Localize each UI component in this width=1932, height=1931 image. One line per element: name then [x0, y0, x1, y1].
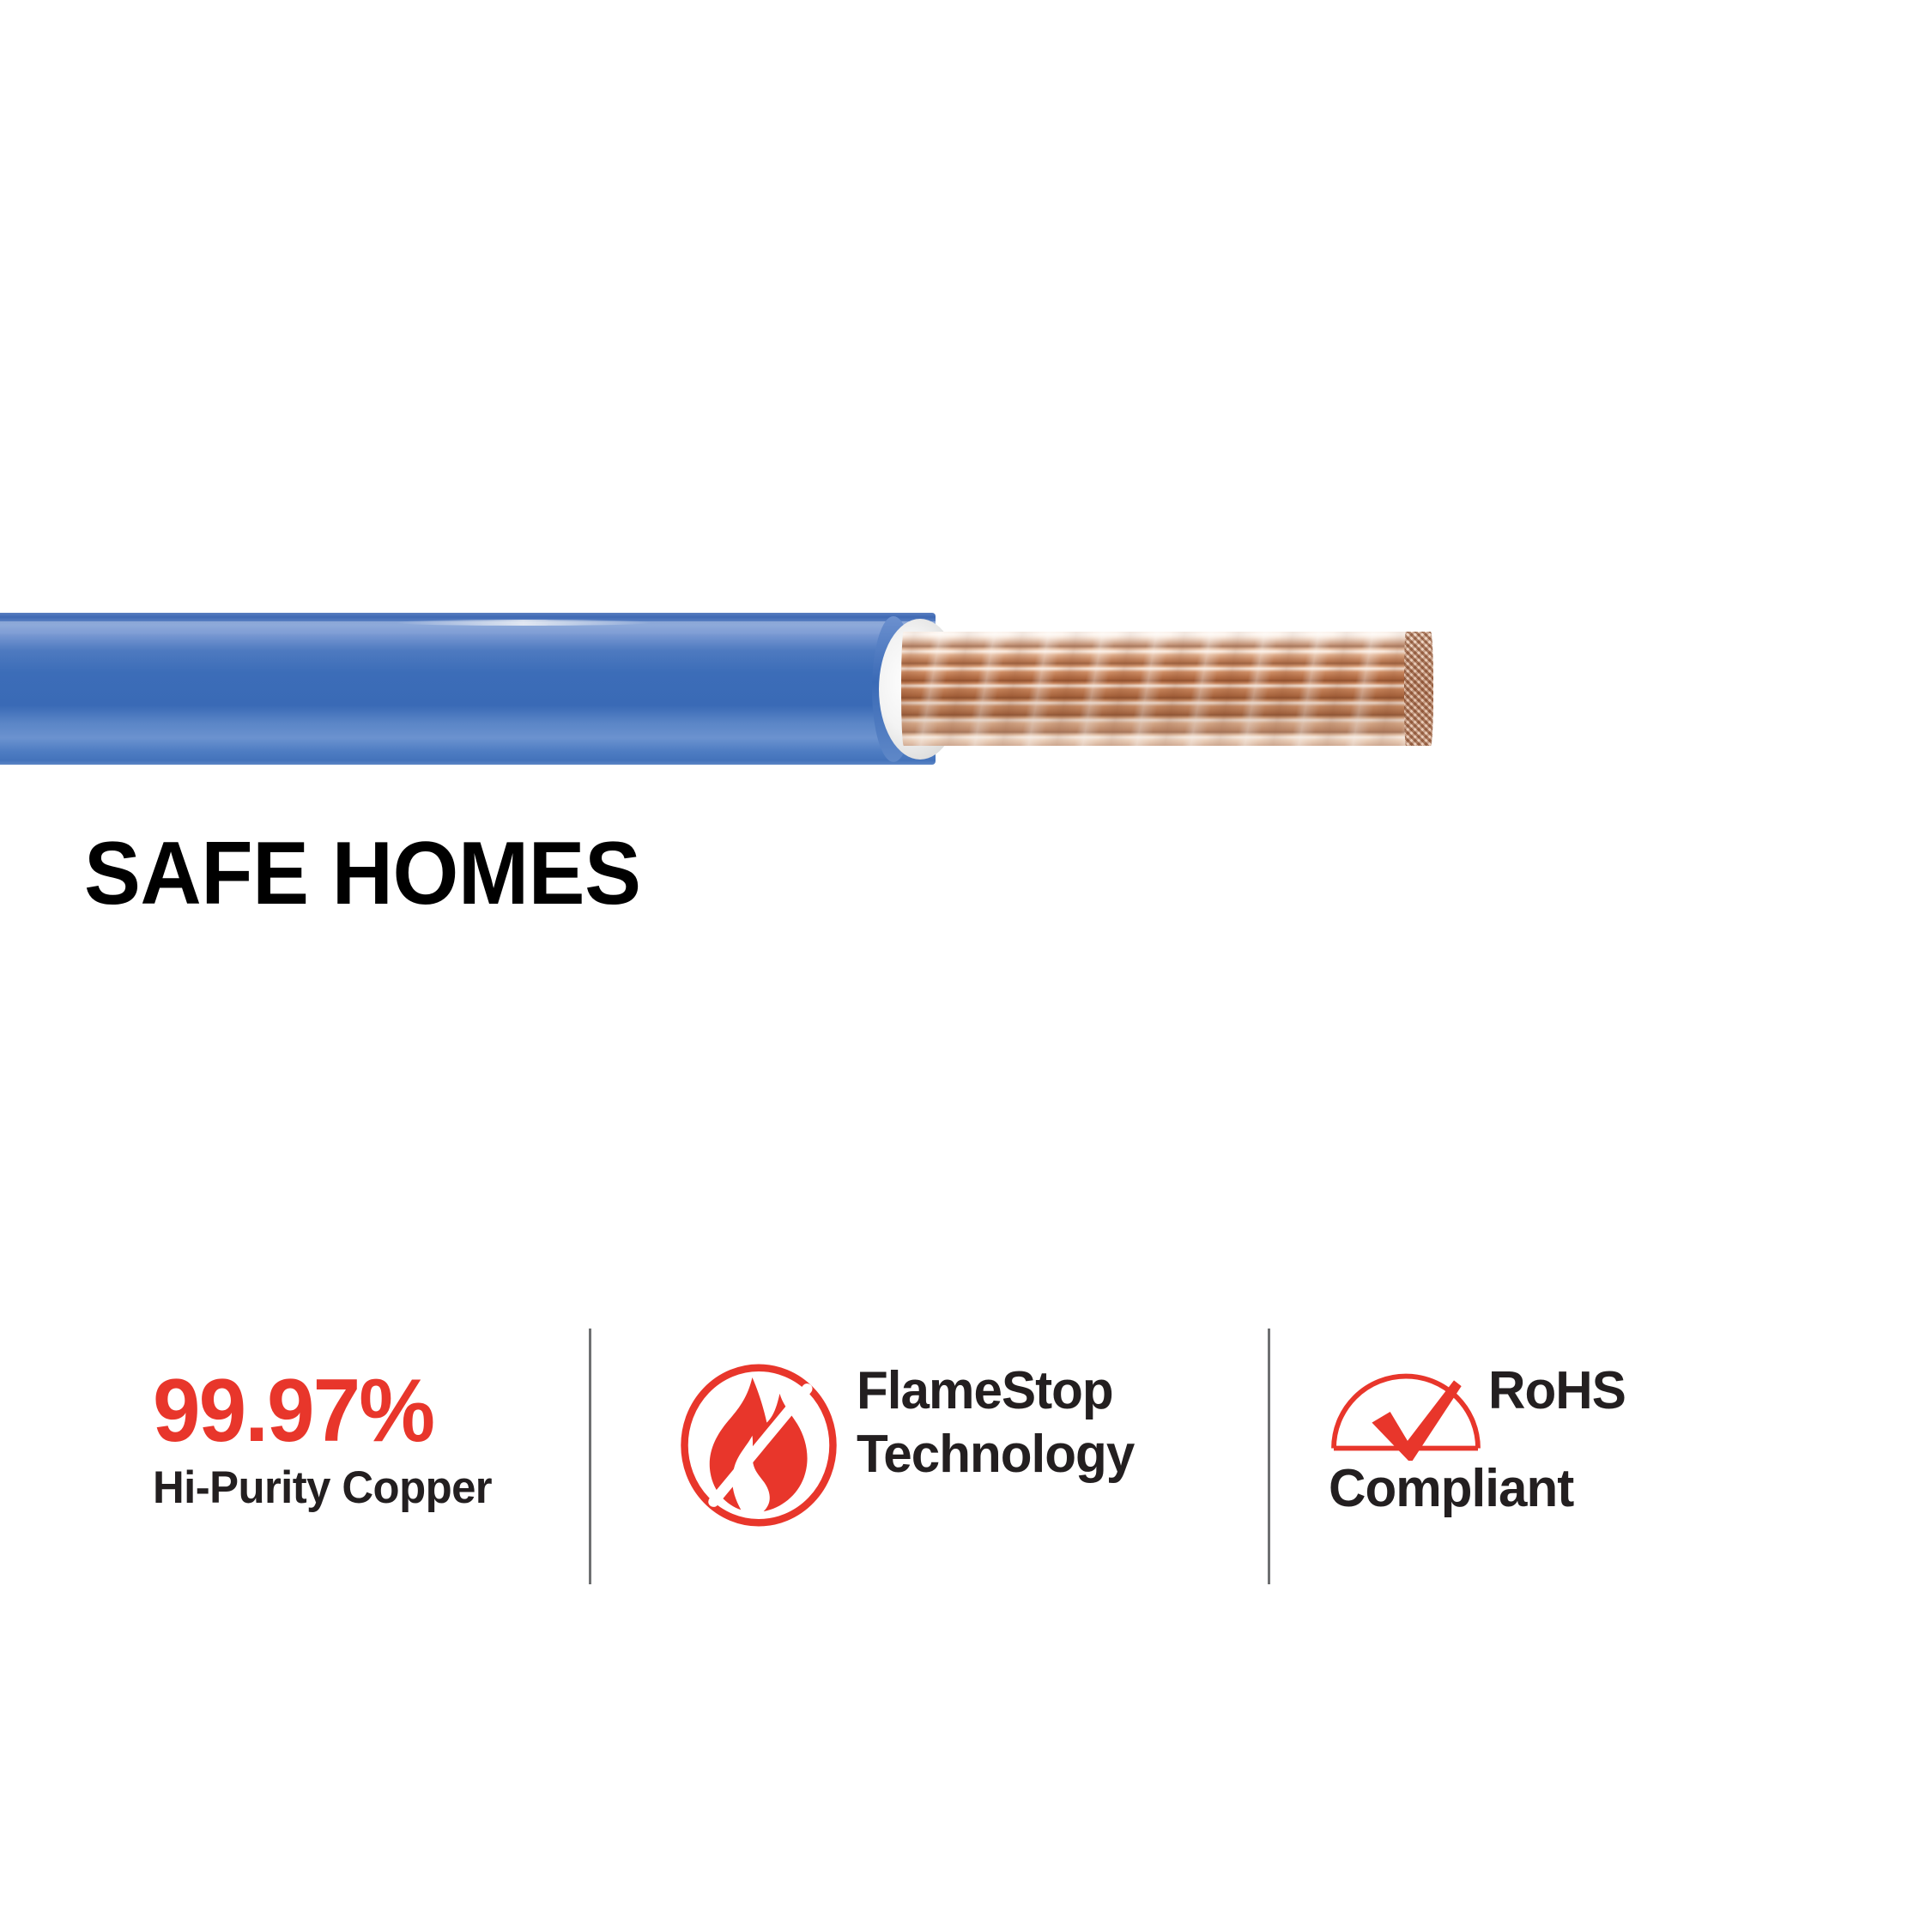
badge-rohs-compliant: RoHS Compliant	[1329, 1322, 1630, 1596]
badge-flamestop-technology: FlameStop Technology	[678, 1322, 1142, 1596]
flamestop-line-2: Technology	[857, 1423, 1134, 1486]
copper-cut-end-cross-section	[1404, 632, 1433, 746]
purity-label: Hi-Purity Copper	[153, 1462, 492, 1514]
cable-jacket-scuff	[395, 620, 652, 626]
flamestop-line-1: FlameStop	[857, 1359, 1134, 1423]
purity-percentage-value: 99.97%	[153, 1370, 433, 1452]
copper-strand-shading	[901, 632, 1433, 746]
copper-conductor-strands	[901, 632, 1433, 746]
cable-product-image	[0, 601, 1459, 772]
feature-badge-strip: 99.97% Hi-Purity Copper FlameStop Techno…	[0, 1322, 1932, 1596]
page-title: SAFE HOMES	[84, 829, 641, 918]
badge-divider	[589, 1329, 591, 1584]
rohs-line-2: Compliant	[1329, 1457, 1573, 1521]
rohs-line-1: RoHS	[1488, 1359, 1626, 1423]
poster-canvas: SAFE HOMES 99.97% Hi-Purity Copper Flame…	[0, 0, 1932, 1931]
cable-blue-insulation	[0, 613, 936, 765]
badge-divider	[1268, 1329, 1270, 1584]
no-flame-icon	[678, 1363, 839, 1528]
rohs-icon-and-word: RoHS	[1329, 1359, 1630, 1461]
flamestop-text-block: FlameStop Technology	[857, 1359, 1134, 1486]
badge-hi-purity-copper: 99.97% Hi-Purity Copper	[153, 1322, 506, 1596]
rohs-check-arc-icon	[1329, 1365, 1483, 1461]
